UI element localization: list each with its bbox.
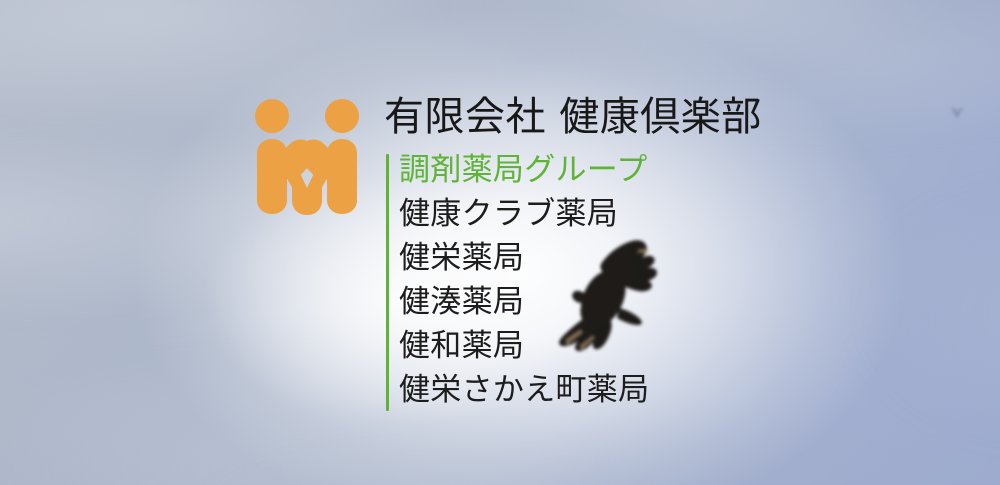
distant-bird-silhouette-icon [948, 104, 966, 121]
company-banner: 有限会社 健康倶楽部 調剤薬局グループ 健康クラブ薬局 健栄薬局 健湊薬局 健和… [0, 0, 1000, 485]
green-accent-rule [386, 154, 389, 411]
list-item: 健和薬局 [399, 324, 941, 368]
pharmacy-group-heading: 調剤薬局グループ [399, 148, 941, 192]
pharmacy-list-container: 調剤薬局グループ 健康クラブ薬局 健栄薬局 健湊薬局 健和薬局 健栄さかえ町薬局 [381, 148, 941, 412]
pharmacy-list: 調剤薬局グループ 健康クラブ薬局 健栄薬局 健湊薬局 健和薬局 健栄さかえ町薬局 [399, 148, 941, 412]
list-item: 健栄薬局 [399, 236, 941, 280]
list-item: 健康クラブ薬局 [399, 192, 941, 236]
two-people-holding-hands-icon [246, 96, 368, 218]
company-name: 有限会社 健康倶楽部 [384, 92, 941, 142]
brand-text-block: 有限会社 健康倶楽部 調剤薬局グループ 健康クラブ薬局 健栄薬局 健湊薬局 健和… [381, 92, 941, 412]
list-item: 健湊薬局 [399, 280, 941, 324]
list-item: 健栄さかえ町薬局 [399, 368, 941, 412]
